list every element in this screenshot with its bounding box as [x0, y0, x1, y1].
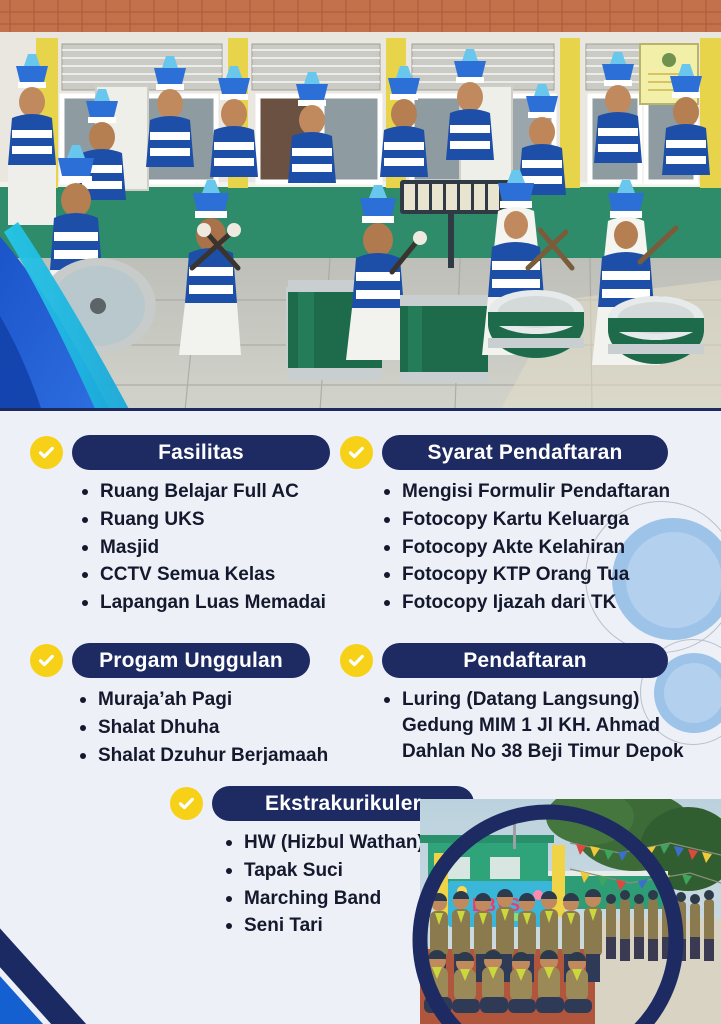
section-progam-unggulan: Progam Unggulan Muraja’ah Pagi Shalat Dh…	[30, 643, 350, 770]
section-header-fasilitas: Fasilitas	[30, 435, 330, 470]
marching-band-photo	[0, 0, 721, 411]
list-syarat: Mengisi Formulir Pendaftaran Fotocopy Ka…	[380, 479, 685, 616]
section-title-syarat: Syarat Pendaftaran	[382, 435, 668, 470]
check-icon	[30, 436, 63, 469]
list-item: Fotocopy Ijazah dari TK	[380, 590, 685, 616]
section-syarat-pendaftaran: Syarat Pendaftaran Mengisi Formulir Pend…	[340, 435, 685, 618]
section-fasilitas: Fasilitas Ruang Belajar Full AC Ruang UK…	[30, 435, 330, 618]
list-item: Lapangan Luas Memadai	[78, 590, 330, 616]
list-item: Muraja’ah Pagi	[76, 687, 350, 713]
list-fasilitas: Ruang Belajar Full AC Ruang UKS Masjid C…	[78, 479, 330, 616]
list-item: CCTV Semua Kelas	[78, 562, 330, 588]
section-header-syarat: Syarat Pendaftaran	[340, 435, 685, 470]
list-pendaftaran: Luring (Datang Langsung) Gedung MIM 1 Jl…	[380, 687, 700, 764]
list-item: Luring (Datang Langsung) Gedung MIM 1 Jl…	[380, 687, 700, 764]
check-icon	[170, 787, 203, 820]
list-item: Shalat Dhuha	[76, 715, 350, 741]
section-title-pendaftaran: Pendaftaran	[382, 643, 668, 678]
list-item: Shalat Dzuhur Berjamaah	[76, 743, 350, 769]
section-pendaftaran: Pendaftaran Luring (Datang Langsung) Ged…	[340, 643, 700, 766]
list-item: Fotocopy KTP Orang Tua	[380, 562, 685, 588]
section-title-fasilitas: Fasilitas	[72, 435, 330, 470]
section-header-pendaftaran: Pendaftaran	[340, 643, 700, 678]
section-header-progam: Progam Unggulan	[30, 643, 350, 678]
list-item: Ruang UKS	[78, 507, 330, 533]
list-item: Masjid	[78, 535, 330, 561]
check-icon	[340, 436, 373, 469]
scouts-group-photo: LBVS	[420, 799, 721, 1024]
check-icon	[340, 644, 373, 677]
list-item: Mengisi Formulir Pendaftaran	[380, 479, 685, 505]
flyer-page: Fasilitas Ruang Belajar Full AC Ruang UK…	[0, 0, 721, 1024]
list-progam: Muraja’ah Pagi Shalat Dhuha Shalat Dzuhu…	[76, 687, 350, 768]
section-title-progam: Progam Unggulan	[72, 643, 310, 678]
list-item: Ruang Belajar Full AC	[78, 479, 330, 505]
check-icon	[30, 644, 63, 677]
list-item: Fotocopy Akte Kelahiran	[380, 535, 685, 561]
list-item: Fotocopy Kartu Keluarga	[380, 507, 685, 533]
